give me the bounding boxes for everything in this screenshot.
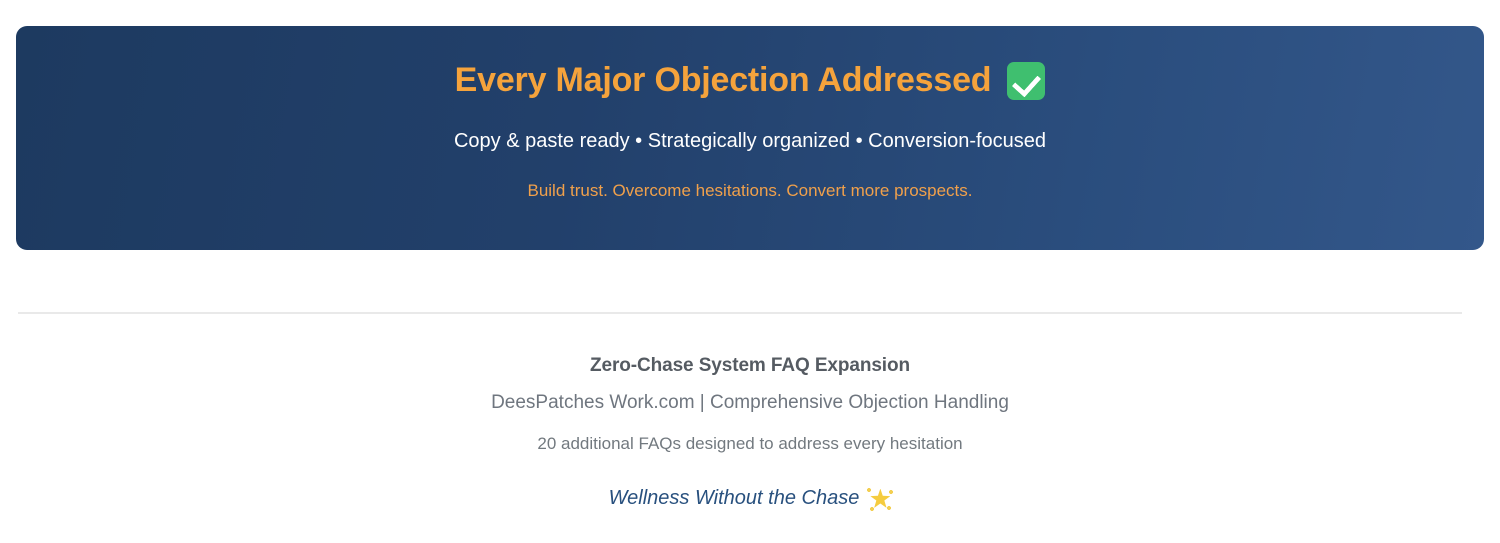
hero-banner: Every Major Objection Addressed Copy & p… [16, 26, 1484, 250]
footer-site-line: DeesPatches Work.com | Comprehensive Obj… [491, 392, 1009, 414]
section-divider [18, 312, 1462, 314]
hero-tagline: Build trust. Overcome hesitations. Conve… [527, 181, 972, 201]
check-mark-button-icon [1007, 62, 1045, 100]
footer-slogan-text: Wellness Without the Chase [609, 487, 860, 510]
hero-title: Every Major Objection Addressed [455, 62, 1046, 100]
hero-title-text: Every Major Objection Addressed [455, 62, 992, 99]
footer-title: Zero-Chase System FAQ Expansion [590, 355, 910, 377]
glowing-star-icon [869, 488, 891, 510]
footer-slogan: Wellness Without the Chase [609, 487, 892, 510]
footer-block: Zero-Chase System FAQ Expansion DeesPatc… [0, 355, 1500, 510]
hero-subtitle: Copy & paste ready • Strategically organ… [454, 130, 1046, 153]
page-root: Every Major Objection Addressed Copy & p… [0, 0, 1500, 543]
footer-note: 20 additional FAQs designed to address e… [537, 434, 962, 454]
